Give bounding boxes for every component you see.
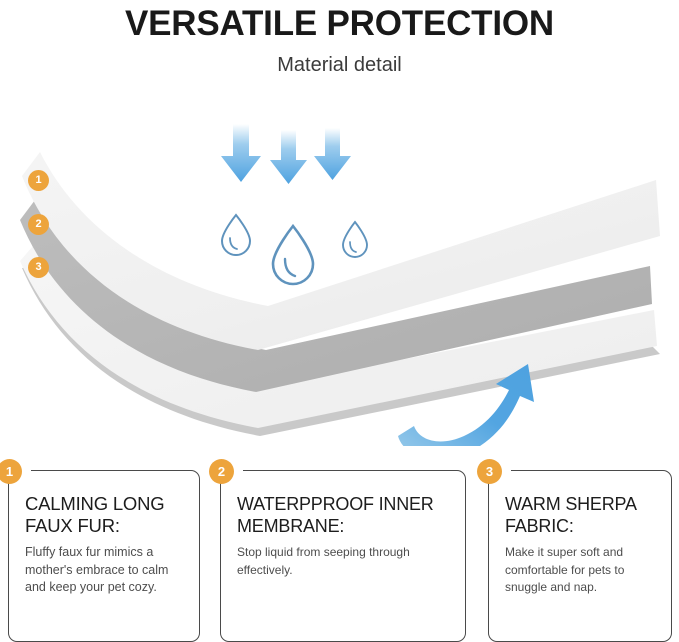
card-badge-3: 3: [477, 459, 502, 484]
down-arrow-3: [314, 128, 351, 180]
feature-card-calming-long-faux-fur: 1 CALMING LONG FAUX FUR: Fluffy faux fur…: [8, 470, 200, 642]
droplet-center: [273, 226, 313, 284]
down-arrow-2: [270, 130, 307, 184]
feature-cards: 1 CALMING LONG FAUX FUR: Fluffy faux fur…: [0, 470, 679, 635]
down-arrow-1: [221, 124, 261, 182]
droplet-left: [222, 215, 250, 255]
droplet-right: [343, 222, 367, 257]
card-3-body: Make it super soft and comfortable for p…: [505, 544, 657, 597]
layers-illustration: [0, 96, 679, 446]
material-layers-diagram: [0, 96, 679, 446]
feature-card-waterproof-inner-membrane: 2 WATERPPROOF INNER MEMBRANE: Stop liqui…: [220, 470, 466, 642]
page-subtitle: Material detail: [0, 44, 679, 77]
card-badge-2: 2: [209, 459, 234, 484]
layer-badge-2: 2: [28, 214, 49, 235]
card-3-title: WARM SHERPA FABRIC:: [505, 493, 657, 537]
card-badge-1: 1: [0, 459, 22, 484]
feature-card-warm-sherpa-fabric: 3 WARM SHERPA FABRIC: Make it super soft…: [488, 470, 672, 642]
liquid-entering-arrows: [221, 124, 351, 184]
card-1-title: CALMING LONG FAUX FUR:: [25, 493, 185, 537]
card-1-body: Fluffy faux fur mimics a mother's embrac…: [25, 544, 185, 597]
card-2-body: Stop liquid from seeping through effecti…: [237, 544, 451, 579]
page-title: VERSATILE PROTECTION: [0, 0, 679, 44]
card-2-title: WATERPPROOF INNER MEMBRANE:: [237, 493, 451, 537]
layer-badge-3: 3: [28, 257, 49, 278]
layer-badge-1: 1: [28, 170, 49, 191]
water-droplets: [222, 215, 367, 284]
header: VERSATILE PROTECTION Material detail: [0, 0, 679, 77]
